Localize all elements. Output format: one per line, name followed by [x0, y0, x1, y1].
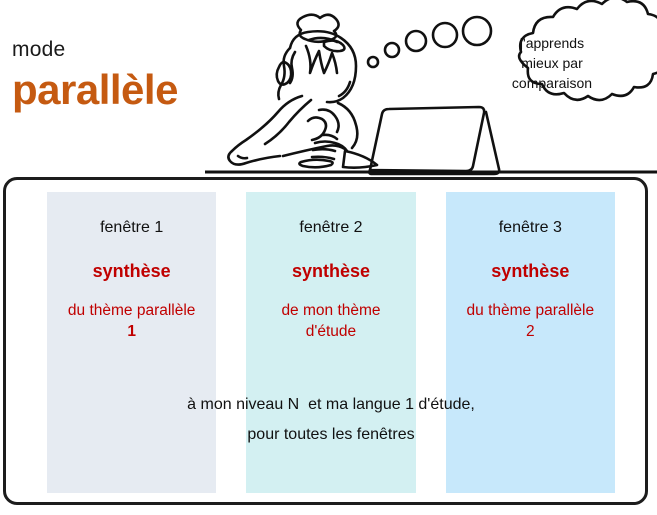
- window-label-2: fenêtre 2: [248, 218, 413, 238]
- synthese-desc-1-line-2: 1: [49, 321, 214, 342]
- window-column-1[interactable]: fenêtre 1 synthèse du thème parallèle 1: [47, 192, 216, 493]
- window-column-3[interactable]: fenêtre 3 synthèse du thème parallèle 2: [446, 192, 615, 493]
- synthese-desc-3-line-2: 2: [448, 321, 613, 342]
- window-column-2[interactable]: fenêtre 2 synthèse de mon thème d'étude: [246, 192, 415, 493]
- thought-bubble-text: j'apprends mieux par comparaison: [472, 33, 632, 93]
- synthese-desc-1: du thème parallèle 1: [49, 300, 214, 342]
- window-label-3: fenêtre 3: [448, 218, 613, 238]
- synthese-desc-3: du thème parallèle 2: [448, 300, 613, 342]
- synthese-desc-1-line-1: du thème parallèle: [49, 300, 214, 321]
- thought-bubble-line-3: comparaison: [472, 73, 632, 93]
- synthese-desc-2-line-2: d'étude: [248, 321, 413, 342]
- header-area: mode parallèle: [0, 0, 657, 178]
- mode-title: parallèle: [12, 66, 178, 114]
- window-label-1: fenêtre 1: [49, 218, 214, 238]
- thought-bubble-line-2: mieux par: [472, 53, 632, 73]
- synthese-title-3: synthèse: [448, 260, 613, 282]
- synthese-desc-2: de mon thème d'étude: [248, 300, 413, 342]
- mode-label: mode: [12, 38, 65, 62]
- synthese-title-2: synthèse: [248, 260, 413, 282]
- synthese-title-1: synthèse: [49, 260, 214, 282]
- synthese-desc-3-line-1: du thème parallèle: [448, 300, 613, 321]
- thought-bubble-line-1: j'apprends: [472, 33, 632, 53]
- synthese-desc-2-line-1: de mon thème: [248, 300, 413, 321]
- windows-columns: fenêtre 1 synthèse du thème parallèle 1 …: [47, 192, 615, 493]
